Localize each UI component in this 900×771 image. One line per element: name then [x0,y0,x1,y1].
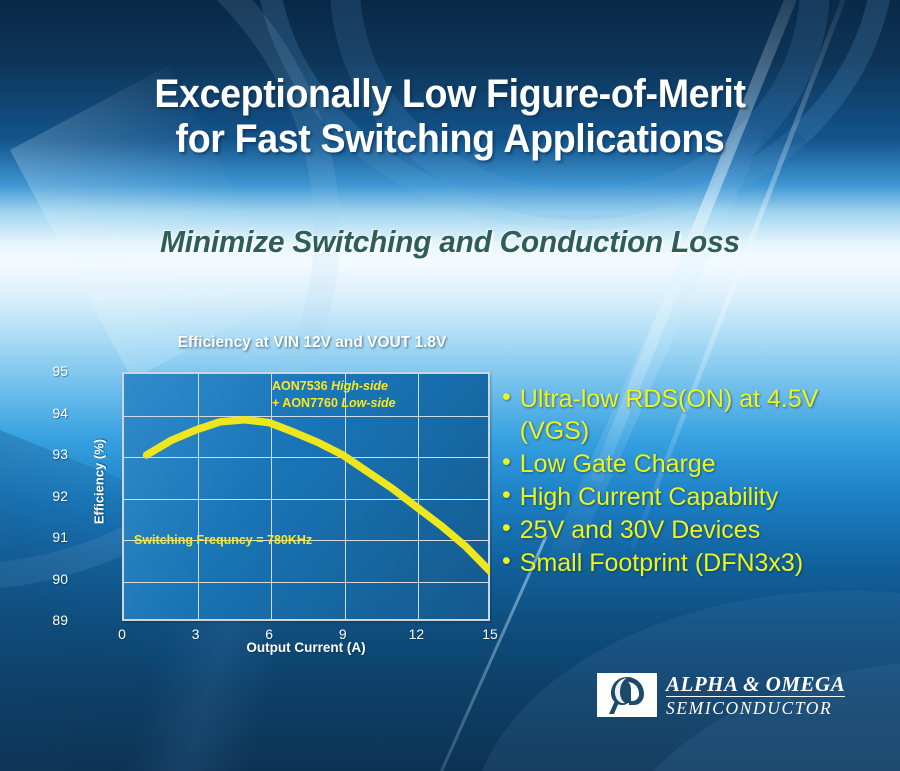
feature-bullet-label: Small Footprint (DFN3x3) [520,547,886,579]
x-tick-label: 6 [249,626,289,642]
logo-wordmark: ALPHA & OMEGA SEMICONDUCTOR [666,673,845,718]
y-tick-label: 93 [28,446,68,462]
chart-switching-frequency-annotation: Switching Frequncy = 780KHz [134,532,312,549]
y-tick-label: 92 [28,488,68,504]
chart-device-annotation: AON7536 High-side + AON7760 Low-side [272,378,396,411]
feature-bullet-label: Low Gate Charge [520,448,886,480]
feature-bullet-item: •Small Footprint (DFN3x3) [502,547,886,579]
feature-bullet-label: 25V and 30V Devices [520,514,886,546]
feature-bullet-label: High Current Capability [520,481,886,513]
bullet-marker-icon: • [502,547,511,577]
feature-bullet-item: •25V and 30V Devices [502,514,886,546]
device-annotation-line-2-plain: + AON7760 [272,396,341,410]
bullet-marker-icon: • [502,448,511,478]
y-tick-label: 90 [28,571,68,587]
slide-title-line-1: Exceptionally Low Figure-of-Merit [27,72,873,117]
chart-x-axis-label: Output Current (A) [122,640,490,655]
x-tick-label: 15 [470,626,510,642]
y-tick-label: 89 [28,612,68,628]
feature-bullet-item: •Ultra-low RDS(ON) at 4.5V (VGS) [502,383,886,447]
feature-bullet-item: •High Current Capability [502,481,886,513]
device-annotation-line-1-plain: AON7536 [272,379,331,393]
chart-y-axis-label: Efficiency (%) [92,422,107,542]
device-annotation-line-2: + AON7760 Low-side [272,395,396,412]
bullet-marker-icon: • [502,481,511,511]
device-annotation-line-2-italic: Low-side [341,396,395,410]
device-annotation-line-1: AON7536 High-side [272,378,396,395]
feature-bullet-label: Ultra-low RDS(ON) at 4.5V (VGS) [520,383,886,447]
logo-line-1: ALPHA & OMEGA [666,673,845,697]
y-tick-label: 91 [28,529,68,545]
bullet-marker-icon: • [502,514,511,544]
company-logo: ALPHA & OMEGA SEMICONDUCTOR [597,673,845,718]
efficiency-chart: Efficiency at VIN 12V and VOUT 1.8V Effi… [62,334,502,654]
x-tick-label: 0 [102,626,142,642]
slide-title-line-2: for Fast Switching Applications [27,117,873,162]
device-annotation-line-1-italic: High-side [331,379,388,393]
slide-subtitle: Minimize Switching and Conduction Loss [18,224,882,260]
feature-bullet-list: •Ultra-low RDS(ON) at 4.5V (VGS)•Low Gat… [502,383,886,580]
feature-bullet-item: •Low Gate Charge [502,448,886,480]
alpha-omega-monogram-icon [597,673,657,717]
y-tick-label: 94 [28,405,68,421]
chart-title: Efficiency at VIN 12V and VOUT 1.8V [122,334,502,352]
x-tick-label: 12 [396,626,436,642]
logo-line-2: SEMICONDUCTOR [666,697,845,717]
y-tick-label: 95 [28,363,68,379]
x-tick-label: 9 [323,626,363,642]
bullet-marker-icon: • [502,383,511,413]
x-tick-label: 3 [176,626,216,642]
presentation-slide: Exceptionally Low Figure-of-Merit for Fa… [0,0,900,771]
slide-title: Exceptionally Low Figure-of-Merit for Fa… [27,72,873,162]
